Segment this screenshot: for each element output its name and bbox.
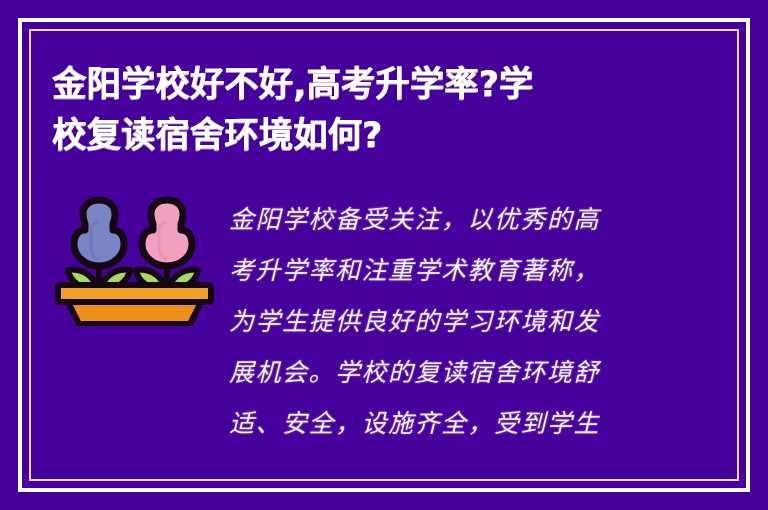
tulip-pink-icon xyxy=(142,200,192,266)
poster-canvas: 金阳学校好不好,高考升学率?学 校复读宿舍环境如何? xyxy=(0,0,768,510)
body-line-3: 为学生提供良好的学习环境和发 xyxy=(229,296,716,347)
title-line-1: 金阳学校好不好,高考升学率?学 xyxy=(52,60,653,111)
content-row: 金阳学校备受关注，以优秀的高 考升学率和注重学术教育著称， 为学生提供良好的学习… xyxy=(52,190,716,449)
body-line-1: 金阳学校备受关注，以优秀的高 xyxy=(229,194,716,245)
body-paragraph: 金阳学校备受关注，以优秀的高 考升学率和注重学术教育著称， 为学生提供良好的学习… xyxy=(217,190,716,449)
title-line-2: 校复读宿舍环境如何? xyxy=(52,111,653,162)
planter-box xyxy=(68,302,201,324)
tulip-blue-icon xyxy=(74,200,124,266)
planter-svg xyxy=(52,196,217,326)
flower-planter-illustration xyxy=(52,190,217,331)
bottom-crop-mask xyxy=(31,461,737,479)
page-title: 金阳学校好不好,高考升学率?学 校复读宿舍环境如何? xyxy=(52,60,672,162)
body-line-5: 适、安全，设施齐全，受到学生 xyxy=(229,398,716,449)
body-line-2: 考升学率和注重学术教育著称， xyxy=(229,245,716,296)
body-line-4: 展机会。学校的复读宿舍环境舒 xyxy=(229,347,716,398)
